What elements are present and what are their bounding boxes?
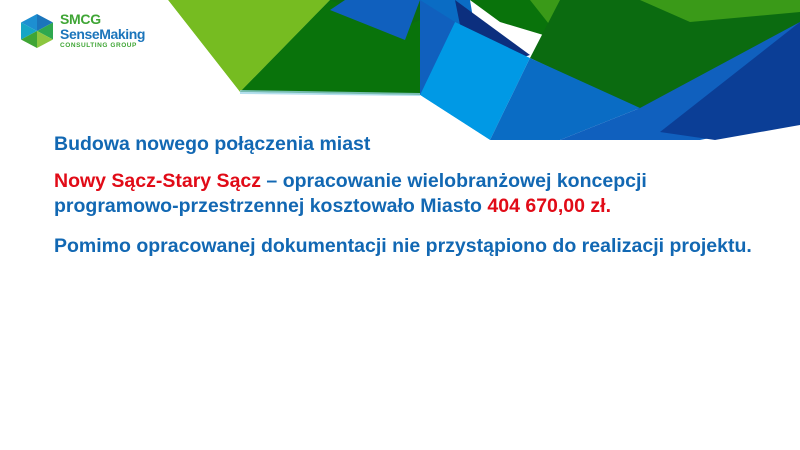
banner-shape-green-upper-right [470, 0, 620, 40]
banner-shape-light-green-right [530, 0, 640, 38]
banner-shape-light-green-left [168, 0, 330, 92]
smcg-logo-text: SMCG SenseMaking CONSULTING GROUP [60, 12, 145, 50]
banner-shape-blue-right-large [560, 22, 800, 140]
banner-shape-blue-center-left [420, 0, 455, 95]
logo-line-smcg: SMCG [60, 12, 145, 26]
presentation-slide: SMCG SenseMaking CONSULTING GROUP Budowa… [0, 0, 800, 450]
slide-heading: Budowa nowego połączenia miast [54, 132, 754, 157]
banner-shape-dark-green-upper [330, 0, 470, 28]
banner-shape-blue-right-wedge [490, 58, 640, 140]
smcg-hexagon-logo-icon [20, 13, 54, 49]
logo-line-consulting-group: CONSULTING GROUP [60, 43, 145, 50]
banner-shape-green-right-mass [530, 0, 800, 110]
banner-shape-blue-mid [420, 0, 480, 95]
banner-shape-blue-left [330, 0, 420, 40]
banner-shape-green-right-top [640, 0, 800, 22]
project-name-accent: Nowy Sącz-Stary Sącz [54, 170, 261, 192]
banner-shape-light-blue-center [420, 22, 530, 140]
slide-paragraph-cost: Nowy Sącz-Stary Sącz – opracowanie wielo… [54, 169, 754, 219]
banner-shape-mid-green [240, 0, 350, 92]
smcg-logo: SMCG SenseMaking CONSULTING GROUP [20, 12, 145, 50]
slide-content: Budowa nowego połączenia miast Nowy Sącz… [54, 132, 754, 259]
project-cost-amount: 404 670,00 zł. [487, 195, 611, 217]
banner-shape-navy-right [660, 22, 800, 140]
banner-shape-highlight-edge [240, 90, 420, 96]
logo-line-sensemaking: SenseMaking [60, 27, 145, 41]
banner-shape-navy-center [455, 0, 530, 75]
banner-shape-dark-green-body [240, 0, 470, 95]
slide-paragraph-outcome: Pomimo opracowanej dokumentacji nie przy… [54, 234, 754, 259]
